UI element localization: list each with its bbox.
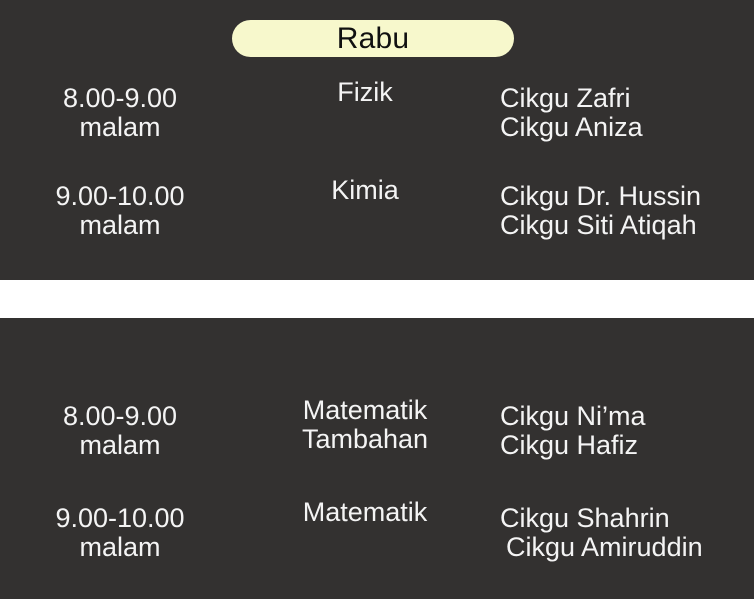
- schedule-row: 9.00-10.00 malam Matematik Cikgu Shahrin…: [0, 498, 754, 582]
- teacher-line-1: Cikgu Shahrin: [500, 503, 670, 533]
- teacher-line-2: Cikgu Aniza: [500, 113, 754, 142]
- subject-line-1: Matematik: [303, 395, 428, 425]
- teacher-line-1: Cikgu Dr. Hussin: [500, 181, 701, 211]
- time-cell: 9.00-10.00 malam: [0, 182, 240, 240]
- time-line-1: 8.00-9.00: [63, 401, 177, 431]
- teacher-cell: Cikgu Ni’ma Cikgu Hafiz: [500, 402, 754, 460]
- teacher-line-2: Cikgu Hafiz: [500, 431, 754, 460]
- teacher-line-2: Cikgu Amiruddin: [500, 533, 754, 562]
- day-pill-rabu: Rabu: [232, 20, 514, 57]
- schedule-row: 8.00-9.00 malam Fizik Cikgu Zafri Cikgu …: [0, 78, 754, 162]
- time-cell: 8.00-9.00 malam: [0, 84, 240, 142]
- day-panel-rabu: Rabu 8.00-9.00 malam Fizik Cikgu Zafri C…: [0, 0, 754, 280]
- subject-line-1: Kimia: [331, 175, 399, 205]
- time-line-1: 9.00-10.00: [55, 181, 184, 211]
- schedule-row: 9.00-10.00 malam Kimia Cikgu Dr. Hussin …: [0, 176, 754, 260]
- day-label-rabu: Rabu: [337, 24, 410, 54]
- time-line-2: malam: [0, 533, 240, 562]
- time-line-2: malam: [0, 113, 240, 142]
- subject-line-2: Tambahan: [240, 425, 490, 454]
- teacher-cell: Cikgu Dr. Hussin Cikgu Siti Atiqah: [500, 182, 754, 240]
- teacher-cell: Cikgu Zafri Cikgu Aniza: [500, 84, 754, 142]
- teacher-cell: Cikgu Shahrin Cikgu Amiruddin: [500, 504, 754, 562]
- time-cell: 8.00-9.00 malam: [0, 402, 240, 460]
- time-line-2: malam: [0, 211, 240, 240]
- time-cell: 9.00-10.00 malam: [0, 504, 240, 562]
- teacher-line-2: Cikgu Siti Atiqah: [500, 211, 754, 240]
- time-line-1: 8.00-9.00: [63, 83, 177, 113]
- teacher-line-1: Cikgu Zafri: [500, 83, 631, 113]
- schedule-row: 8.00-9.00 malam Matematik Tambahan Cikgu…: [0, 396, 754, 480]
- panel-separator: [0, 280, 754, 318]
- subject-cell: Kimia: [240, 176, 490, 205]
- subject-cell: Fizik: [240, 78, 490, 107]
- subject-cell: Matematik: [240, 498, 490, 527]
- time-line-2: malam: [0, 431, 240, 460]
- teacher-line-1: Cikgu Ni’ma: [500, 401, 646, 431]
- subject-line-1: Fizik: [337, 77, 393, 107]
- schedule-graphic: Rabu 8.00-9.00 malam Fizik Cikgu Zafri C…: [0, 0, 754, 599]
- subject-cell: Matematik Tambahan: [240, 396, 490, 454]
- day-panel-jumaat: Jumaat 8.00-9.00 malam Matematik Tambaha…: [0, 318, 754, 599]
- subject-line-1: Matematik: [303, 497, 428, 527]
- time-line-1: 9.00-10.00: [55, 503, 184, 533]
